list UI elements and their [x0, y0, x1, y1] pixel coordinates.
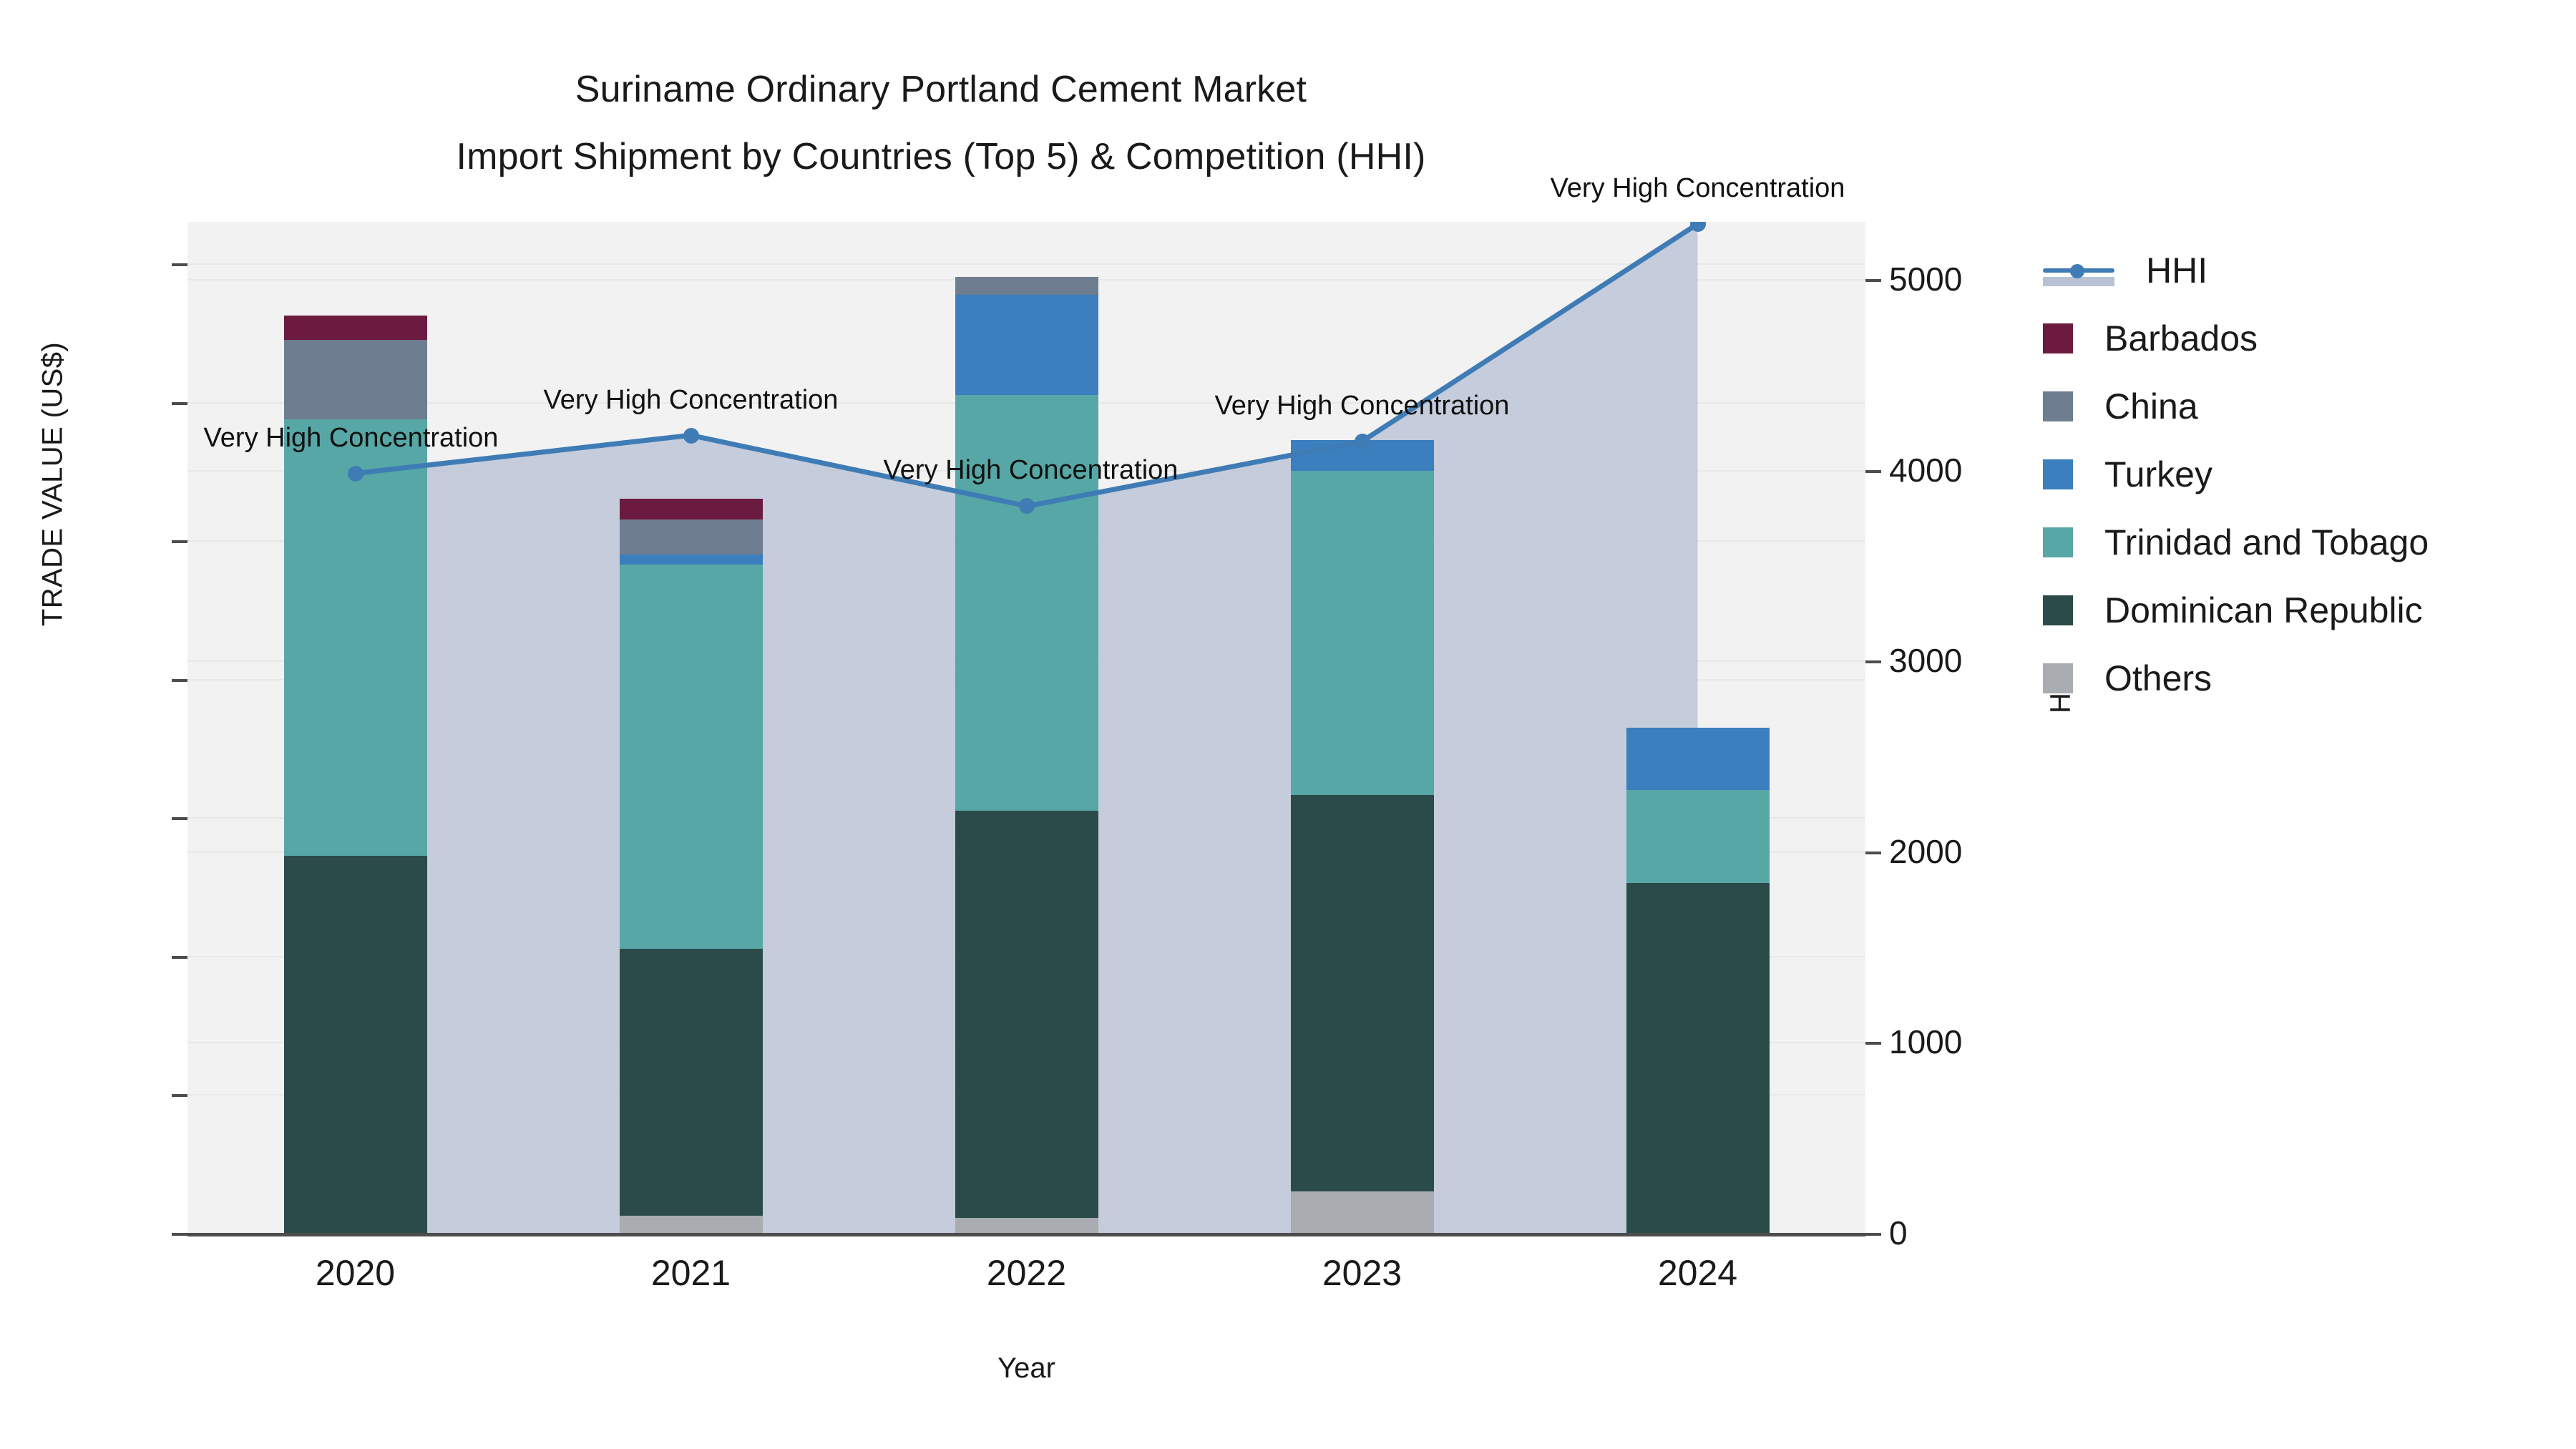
y-tick-mark-right [1865, 1042, 1881, 1045]
hhi-data-point[interactable] [1355, 434, 1370, 449]
y-tick-mark-left [172, 817, 187, 820]
bar-segment[interactable] [284, 316, 427, 340]
legend-label: Barbados [2104, 318, 2258, 359]
chart-title: Suriname Ordinary Portland Cement Market… [0, 56, 1882, 190]
bar-segment[interactable] [955, 1218, 1098, 1233]
legend-label: China [2104, 386, 2198, 427]
legend-label: HHI [2146, 250, 2207, 291]
bar-segment[interactable] [620, 555, 763, 565]
annotation-label: Very High Concentration [204, 423, 499, 454]
legend-swatch-icon [2043, 527, 2073, 557]
y-tick-mark-right [1865, 470, 1881, 473]
legend-label: Trinidad and Tobago [2104, 522, 2429, 563]
bar-segment[interactable] [284, 856, 427, 1233]
annotation-label: Very High Concentration [1215, 391, 1510, 421]
bar-segment[interactable] [620, 565, 763, 949]
legend-label: Others [2104, 658, 2212, 699]
y-tick-right: 2000 [1889, 832, 2104, 871]
legend-swatch-icon [2043, 323, 2073, 353]
y-tick-right: 1000 [1889, 1023, 2104, 1061]
legend-label: Dominican Republic [2104, 590, 2423, 631]
legend-swatch-icon [2043, 663, 2073, 693]
plot-clip [187, 222, 1865, 1233]
y-tick-mark-left [172, 263, 187, 266]
bar-segment[interactable] [955, 811, 1098, 1218]
legend-item-others[interactable]: Others [2043, 644, 2572, 712]
annotation-label: Very High Concentration [1551, 173, 1845, 204]
bar-segment[interactable] [955, 295, 1098, 395]
plot-area [187, 222, 1865, 1233]
y-axis-label-left: TRADE VALUE (US$) [37, 213, 69, 756]
x-tick-2020: 2020 [241, 1252, 470, 1294]
legend-label: Turkey [2104, 454, 2212, 495]
hhi-data-point[interactable] [1019, 498, 1035, 514]
y-tick-right: 0 [1889, 1214, 2104, 1252]
bar-segment[interactable] [955, 277, 1098, 294]
hhi-data-point[interactable] [348, 466, 364, 482]
y-tick-mark-right [1865, 852, 1881, 854]
legend: HHIBarbadosChinaTurkeyTrinidad and Tobag… [2043, 236, 2572, 712]
bar-segment[interactable] [620, 519, 763, 554]
bar-segment[interactable] [1291, 1191, 1434, 1233]
y-tick-mark-left [172, 402, 187, 405]
bar-segment[interactable] [1626, 883, 1770, 1233]
legend-swatch-icon [2043, 595, 2073, 625]
bar-segment[interactable] [620, 499, 763, 519]
x-axis-label: Year [187, 1352, 1865, 1385]
y-tick-mark-right [1865, 279, 1881, 282]
x-tick-2022: 2022 [912, 1252, 1141, 1294]
legend-item-hhi[interactable]: HHI [2043, 236, 2572, 304]
legend-swatch-icon [2043, 391, 2073, 421]
legend-item-barbados[interactable]: Barbados [2043, 304, 2572, 372]
bar-segment[interactable] [620, 949, 763, 1216]
y-tick-mark-left [172, 679, 187, 682]
x-tick-2023: 2023 [1248, 1252, 1477, 1294]
hhi-data-point[interactable] [683, 428, 699, 444]
x-tick-2021: 2021 [577, 1252, 806, 1294]
legend-item-trinidad-and-tobago[interactable]: Trinidad and Tobago [2043, 508, 2572, 576]
legend-line-marker-icon [2043, 255, 2114, 286]
annotation-label: Very High Concentration [884, 455, 1179, 486]
y-tick-mark-right [1865, 660, 1881, 663]
y-tick-mark-left [172, 1233, 187, 1236]
bar-segment[interactable] [1291, 471, 1434, 795]
bar-segment[interactable] [620, 1216, 763, 1233]
x-axis-line [187, 1233, 1865, 1236]
chart-figure: Suriname Ordinary Portland Cement Market… [0, 0, 2576, 1449]
bar-segment[interactable] [1626, 790, 1770, 884]
bar-segment[interactable] [1291, 795, 1434, 1191]
legend-item-turkey[interactable]: Turkey [2043, 440, 2572, 508]
legend-swatch-icon [2043, 459, 2073, 489]
y-tick-mark-right [1865, 1233, 1881, 1236]
x-tick-2024: 2024 [1584, 1252, 1813, 1294]
legend-item-dominican-republic[interactable]: Dominican Republic [2043, 576, 2572, 644]
y-tick-mark-left [172, 1094, 187, 1097]
y-tick-mark-left [172, 956, 187, 959]
bar-segment[interactable] [284, 419, 427, 856]
annotation-label: Very High Concentration [544, 385, 839, 416]
title-line-1: Suriname Ordinary Portland Cement Market [0, 56, 1882, 123]
y-tick-mark-left [172, 540, 187, 543]
bar-segment[interactable] [284, 340, 427, 419]
bar-segment[interactable] [1626, 728, 1770, 790]
legend-item-china[interactable]: China [2043, 372, 2572, 440]
